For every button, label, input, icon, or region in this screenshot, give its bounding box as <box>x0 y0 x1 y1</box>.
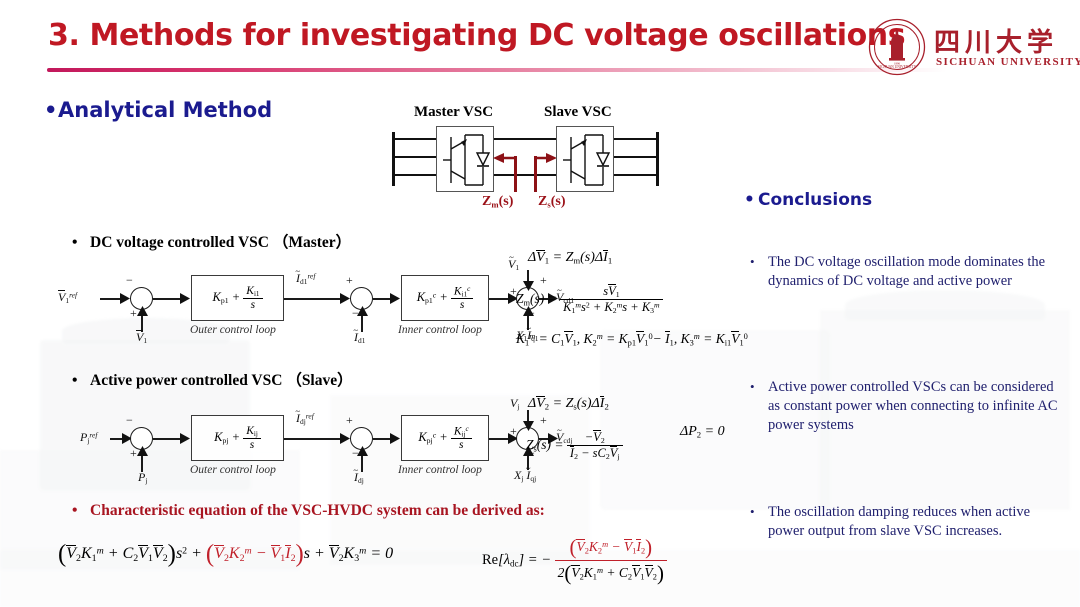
dc-link-bottom <box>494 174 556 176</box>
left-ac-line-3 <box>394 174 436 176</box>
igbt-symbol-icon <box>437 127 495 193</box>
master-impedance-formula: Zm(s) = sV1 K1ms2 + K2ms + K3m <box>516 284 663 315</box>
bullet-marker: • <box>750 378 755 395</box>
master-mid-signal-label: Id1ref <box>296 271 315 286</box>
slave-converter-block <box>556 126 614 192</box>
slave-input-label: Pjref <box>80 430 97 445</box>
master-inner-feedback-label: Id1 <box>354 330 365 345</box>
conclusion-text-3: The oscillation damping reduces when act… <box>768 504 1030 539</box>
analytical-method-label: Analytical Method <box>58 98 272 122</box>
char-eq-heading: •Characteristic equation of the VSC-HVDC… <box>72 502 545 520</box>
conclusion-text-1: The DC voltage oscillation mode dominate… <box>768 254 1045 289</box>
seal-icon: SICHUAN UNIVERSITY 1896 <box>868 18 926 76</box>
sign-plus: + <box>346 413 353 428</box>
right-ac-line-1 <box>614 138 656 140</box>
bullet-marker: • <box>744 190 758 210</box>
slave-top-add-label: Vj <box>510 396 519 411</box>
slave-inner-loop-caption: Inner control loop <box>398 464 482 476</box>
zs-label: Zs(s) <box>538 194 566 210</box>
right-ac-line-2 <box>614 156 656 158</box>
slave-outer-loop-caption: Outer control loop <box>190 464 276 476</box>
slave-control-block-diagram: Pjref − + Pj Kpj + Kijs Outer control lo… <box>58 402 528 494</box>
wire-outer-sum2 <box>284 298 346 300</box>
slave-bottom-sub-label: Xj Iqj <box>514 468 536 483</box>
bullet-marker: • <box>72 234 90 252</box>
characteristic-equation: (V2K1m + C2V1V2)s2 + (V2K2m − V1I2)s + V… <box>58 540 393 568</box>
slave-feedback-label: Pj <box>138 470 147 485</box>
master-impedance-relation: ΔV1 = Zm(s)ΔI1 <box>528 250 612 266</box>
master-inner-controller-block: Kp1c + Ki1cs <box>401 275 489 321</box>
svg-text:1896: 1896 <box>894 62 901 66</box>
sign-plus: + <box>510 424 517 439</box>
logo-chinese-text: 四川大学 <box>934 22 1058 59</box>
university-logo: SICHUAN UNIVERSITY 1896 四川大学 SICHUAN UNI… <box>868 18 1068 80</box>
arrowhead-icon <box>136 306 149 317</box>
conclusion-item-1: • The DC voltage oscillation mode domina… <box>768 253 1068 291</box>
left-ac-bus <box>392 132 395 186</box>
right-ac-line-3 <box>614 174 656 176</box>
bullet-marker: • <box>72 502 90 520</box>
slave-mid-signal-label: Idjref <box>296 411 314 426</box>
master-outer-loop-caption: Outer control loop <box>190 324 276 336</box>
wire-outer-sum2 <box>284 438 346 440</box>
conclusions-heading: •Conclusions <box>744 190 872 210</box>
master-outer-controller-block: Kp1 + Ki1s <box>191 275 284 321</box>
master-top-add-label: V1 <box>508 257 519 272</box>
igbt-symbol-icon <box>557 127 615 193</box>
sign-minus: − <box>126 273 133 288</box>
bullet-marker: • <box>44 98 58 122</box>
sign-minus: − <box>126 413 133 428</box>
master-control-block-diagram: V1ref − + V1 Kp1 + Ki1s Outer control lo… <box>58 262 528 354</box>
zm-label: Zm(s) <box>482 194 513 210</box>
title-underline <box>47 68 947 72</box>
dc-link-top <box>494 138 556 140</box>
analytical-method-heading: •Analytical Method <box>44 98 272 122</box>
slave-inner-controller-block: Kpjc + Kijcs <box>401 415 489 461</box>
conclusion-text-2: Active power controlled VSCs can be cons… <box>768 379 1058 433</box>
sign-plus: + <box>540 413 547 428</box>
slave-impedance-formula: Zs(s) = −V2 I2 − sC2Vj <box>526 430 623 461</box>
logo-english-text: SICHUAN UNIVERSITY <box>936 56 1080 68</box>
conclusion-item-3: • The oscillation damping reduces when a… <box>768 503 1068 541</box>
master-feedback-label: V1 <box>136 330 147 345</box>
master-gain-definitions: K1m = C1V1, K2m = Kp1V10− I1, K3m = Ki1V… <box>516 331 748 347</box>
left-ac-line-2 <box>394 156 436 158</box>
master-vsc-label: Master VSC <box>414 104 493 121</box>
slave-vsc-label: Slave VSC <box>544 104 612 121</box>
vsc-topology-diagram: Master VSC Slave VSC Zm(s) Z <box>386 104 686 216</box>
svg-text:SICHUAN UNIVERSITY: SICHUAN UNIVERSITY <box>878 65 917 69</box>
bullet-marker: • <box>750 253 755 270</box>
slave-impedance-relation: ΔV2 = Zs(s)ΔI2 <box>528 396 609 412</box>
slave-outer-controller-block: Kpj + Kijs <box>191 415 284 461</box>
slave-heading-label: Active power controlled VSC （Slave） <box>90 372 353 389</box>
slave-section-heading: •Active power controlled VSC （Slave） <box>72 368 353 390</box>
master-inner-loop-caption: Inner control loop <box>398 324 482 336</box>
right-ac-bus <box>656 132 659 186</box>
arrowhead-icon <box>136 446 149 457</box>
bullet-marker: • <box>72 372 90 390</box>
conclusions-title-label: Conclusions <box>758 190 872 210</box>
master-heading-label: DC voltage controlled VSC （Master） <box>90 234 351 251</box>
conclusion-item-2: • Active power controlled VSCs can be co… <box>768 378 1068 435</box>
damping-expression: Re[λdc] = − (V2K2m − V1I2) 2(V2K1m + C2V… <box>482 535 667 586</box>
master-input-label: V1ref <box>58 290 77 305</box>
arrowhead-icon <box>356 306 369 317</box>
sign-plus: + <box>346 273 353 288</box>
slave-inner-feedback-label: Idj <box>354 470 364 485</box>
page-title: 3. Methods for investigating DC voltage … <box>48 18 905 53</box>
master-section-heading: •DC voltage controlled VSC （Master） <box>72 230 351 252</box>
slave-power-relation: ΔP2 = 0 <box>680 424 725 440</box>
arrowhead-icon <box>356 446 369 457</box>
char-eq-heading-label: Characteristic equation of the VSC-HVDC … <box>90 502 545 519</box>
bullet-marker: • <box>750 503 755 520</box>
left-ac-line-1 <box>394 138 436 140</box>
master-converter-block <box>436 126 494 192</box>
